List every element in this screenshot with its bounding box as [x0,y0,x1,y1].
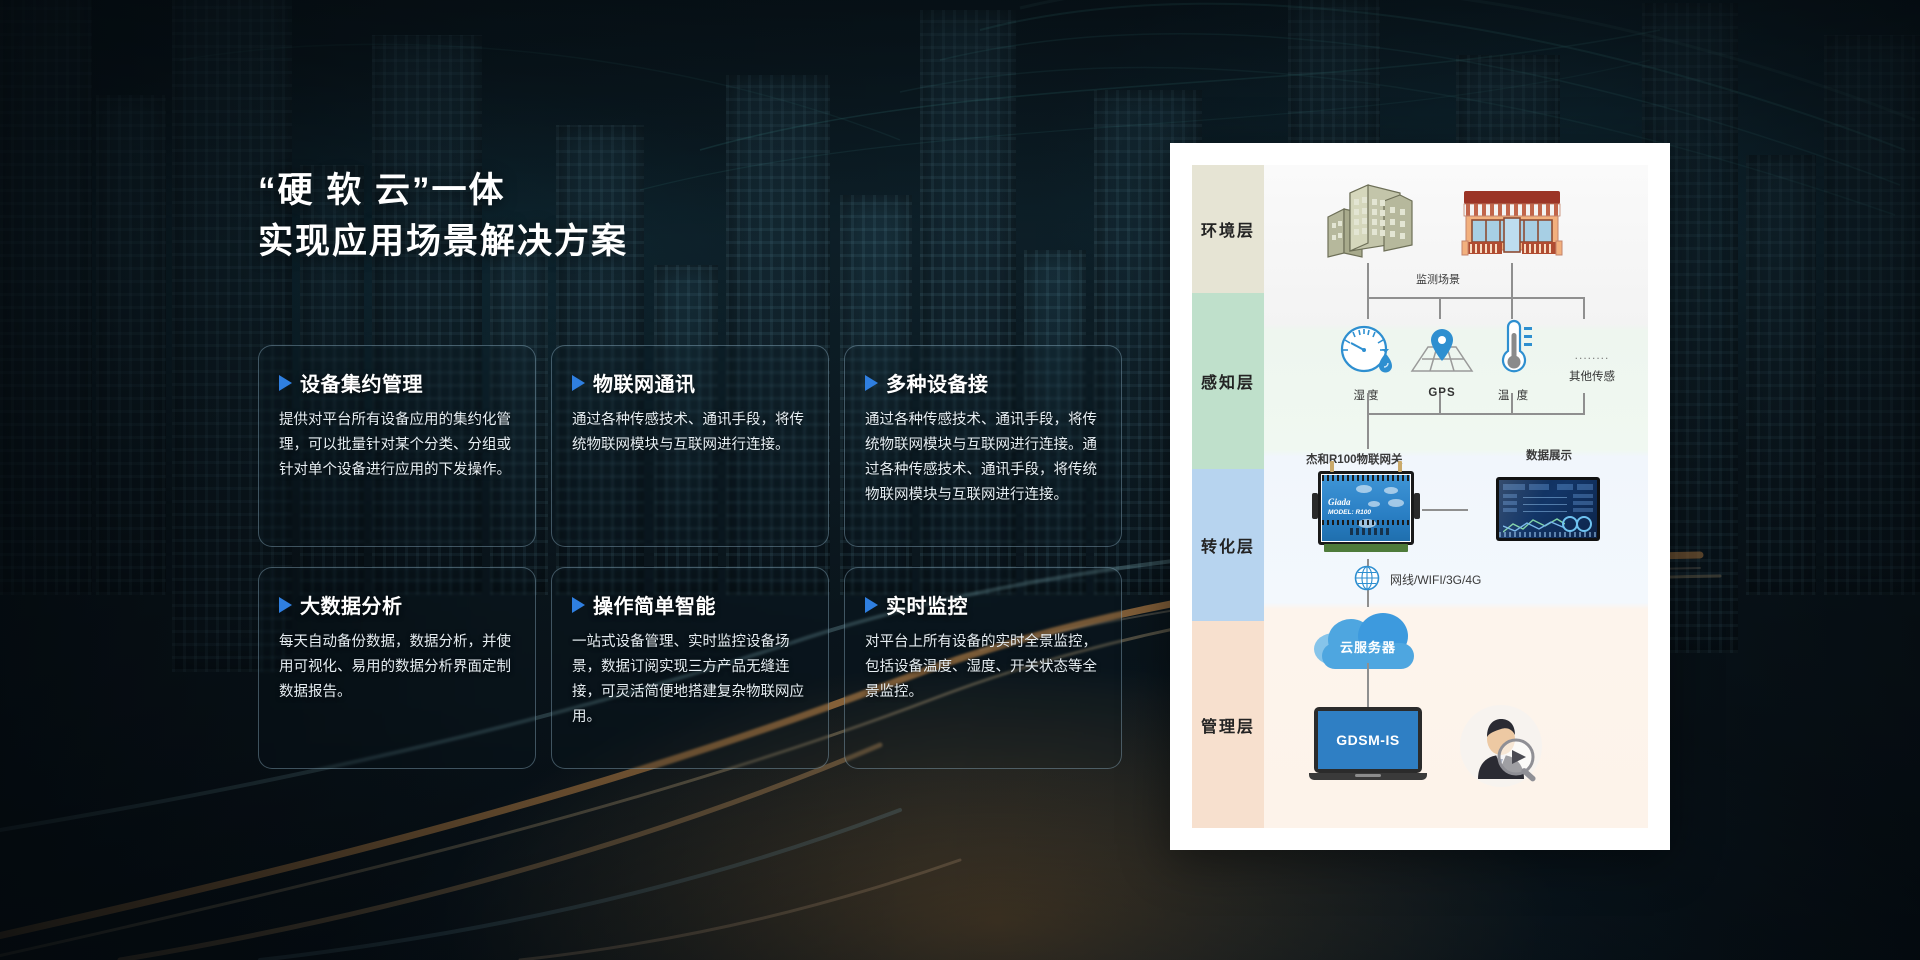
other-sensor-dots: ........ [1554,349,1630,361]
sensor-other: ........ 其他传感 [1554,349,1630,384]
feature-card[interactable]: 大数据分析 每天自动备份数据，数据分析，并使用可视化、易用的数据分析界面定制数据… [258,567,536,769]
feature-card-header: 大数据分析 [279,590,515,619]
connector-line [1367,393,1369,415]
triangle-bullet-icon [865,375,878,391]
feature-card-body: 一站式设备管理、实时监控设备场景，数据订阅实现三方产品无缝连接，可灵活简便地搭建… [572,630,808,730]
feature-card-body: 每天自动备份数据，数据分析，并使用可视化、易用的数据分析界面定制数据报告。 [279,630,515,705]
data-display-monitor [1496,477,1600,541]
triangle-bullet-icon [572,375,585,391]
feature-card-body: 通过各种传感技术、通讯手段，将传统物联网模块与互联网进行连接。 [572,408,808,458]
platform-label: GDSM-IS [1318,711,1418,769]
headline-line-2: 实现应用场景解决方案 [258,217,1138,268]
feature-card[interactable]: 实时监控 对平台上所有设备的实时全景监控，包括设备温度、湿度、开关状态等全景监控… [844,567,1122,769]
sensor-gps: GPS [1406,325,1478,399]
feature-card-header: 物联网通讯 [572,368,808,397]
layer-label: 管理层 [1201,713,1255,737]
feature-card-body: 对平台上所有设备的实时全景监控，包括设备温度、湿度、开关状态等全景监控。 [865,630,1101,705]
connector-line [1367,297,1369,319]
headline-block: “硬 软 云”一体 实现应用场景解决方案 [258,166,1138,268]
layer-label: 环境层 [1201,217,1255,241]
sensor-label: GPS [1406,387,1478,399]
layer-legend-column: 环境层 感知层 转化层 管理层 [1192,165,1264,828]
office-building-icon [1322,183,1414,261]
connector-line [1439,297,1441,319]
connector-line [1583,297,1585,319]
layer-environment: 环境层 [1192,165,1264,293]
triangle-bullet-icon [865,597,878,613]
feature-card-header: 实时监控 [865,590,1101,619]
feature-card-body: 通过各种传感技术、通讯手段，将传统物联网模块与互联网进行连接。通过各种传感技术、… [865,408,1101,508]
data-display-label: 数据展示 [1526,447,1572,463]
feature-card-title: 设备集约管理 [300,368,423,397]
layer-management: 管理层 [1192,621,1264,828]
feature-card[interactable]: 操作简单智能 一站式设备管理、实时监控设备场景，数据订阅实现三方产品无缝连接，可… [551,567,829,769]
feature-card[interactable]: 物联网通讯 通过各种传感技术、通讯手段，将传统物联网模块与互联网进行连接。 [551,345,829,547]
shop-building-icon [1460,189,1564,261]
connector-line [1367,663,1369,711]
globe-icon [1354,565,1380,591]
triangle-bullet-icon [279,375,292,391]
connector-line [1583,393,1585,415]
feature-card-title: 大数据分析 [300,590,403,619]
connector-line [1511,263,1513,299]
connector-line [1367,263,1369,299]
feature-card[interactable]: 设备集约管理 提供对平台所有设备应用的集约化管理，可以批量针对某个分类、分组或针… [258,345,536,547]
connector-line [1511,297,1513,319]
iot-gateway-device: Giada MODEL: R100 [1318,471,1414,545]
connector-line [1367,413,1369,449]
environment-caption: 监测场景 [1416,271,1460,287]
triangle-bullet-icon [279,597,292,613]
thermometer-icon [1486,317,1542,379]
cloud-label: 云服务器 [1314,637,1422,656]
feature-card-header: 多种设备接 [865,368,1101,397]
connector-line [1422,509,1468,511]
sensor-humidity: 湿度 [1336,323,1398,403]
feature-card-title: 物联网通讯 [593,368,696,397]
connector-line [1511,393,1513,415]
feature-card-body: 提供对平台所有设备应用的集约化管理，可以批量针对某个分类、分组或针对单个设备进行… [279,408,515,483]
layer-sensing: 感知层 [1192,293,1264,469]
architecture-diagram-panel: 环境层 感知层 转化层 管理层 [1170,143,1670,850]
layer-label: 感知层 [1201,369,1255,393]
diagram-stage: 监测场景 [1264,165,1648,828]
sensor-label: 温 度 [1486,387,1542,403]
humidity-gauge-icon [1336,323,1398,379]
gateway-model: MODEL: R100 [1328,509,1371,516]
feature-card[interactable]: 多种设备接 通过各种传感技术、通讯手段，将传统物联网模块与互联网进行连接。通过各… [844,345,1122,547]
gps-pin-icon [1406,325,1478,379]
feature-card-grid: 设备集约管理 提供对平台所有设备应用的集约化管理，可以批量针对某个分类、分组或针… [258,345,1138,769]
user-search-icon [1460,705,1542,787]
feature-card-header: 设备集约管理 [279,368,515,397]
sensor-temperature: 温 度 [1486,317,1542,403]
layer-label: 转化层 [1201,533,1255,557]
feature-card-title: 多种设备接 [886,368,989,397]
feature-card-header: 操作简单智能 [572,590,808,619]
feature-card-title: 实时监控 [886,590,968,619]
other-sensor-label: 其他传感 [1554,368,1630,384]
connector-line [1439,393,1441,415]
network-label: 网线/WIFI/3G/4G [1390,571,1481,588]
headline-line-1: “硬 软 云”一体 [258,166,1138,217]
gateway-brand: Giada [1328,497,1351,507]
layer-conversion: 转化层 [1192,469,1264,621]
triangle-bullet-icon [572,597,585,613]
gateway-label: 杰和R100物联网关 [1306,451,1403,467]
connector-line [1367,413,1585,415]
connector-line [1511,297,1585,299]
platform-laptop: GDSM-IS [1309,707,1427,787]
feature-card-title: 操作简单智能 [593,590,716,619]
